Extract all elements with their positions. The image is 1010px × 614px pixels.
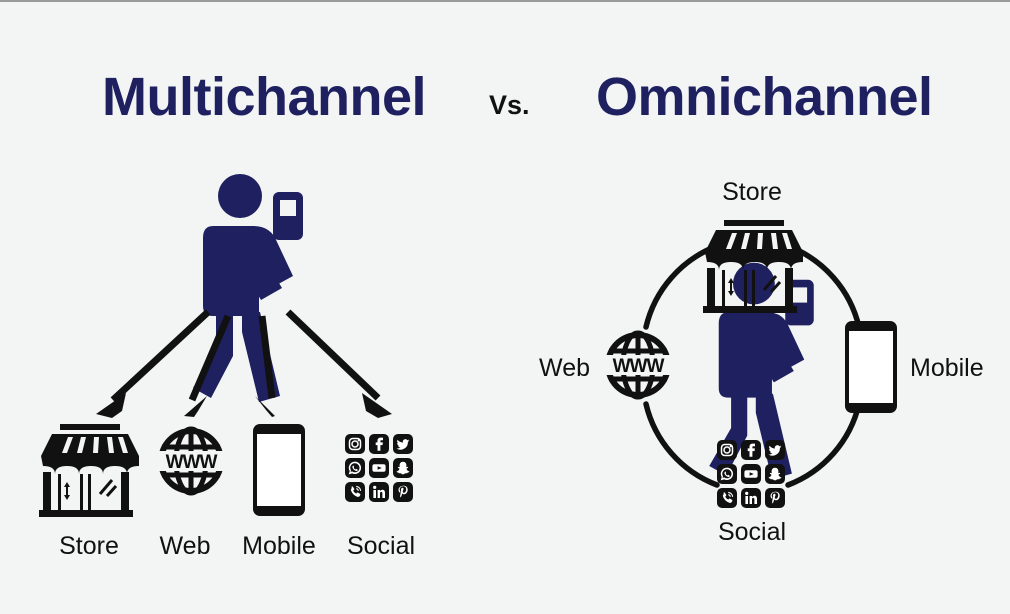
web-icon-group[interactable]: WWW xyxy=(605,332,671,398)
youtube-icon xyxy=(369,458,389,478)
globe-www-icon: WWW xyxy=(605,332,671,398)
channel-label-mobile: Mobile xyxy=(242,532,316,560)
channel-label-social: Social xyxy=(347,532,415,560)
twitter-icon xyxy=(393,434,413,454)
channel-label-store: Store xyxy=(722,178,782,206)
multichannel-arrowheads xyxy=(96,393,392,418)
whatsapp-icon xyxy=(345,458,365,478)
storefront-icon xyxy=(39,424,139,517)
channel-label-social: Social xyxy=(718,518,786,546)
social-icon-grid xyxy=(345,434,413,502)
channel-label-store: Store xyxy=(59,532,119,560)
facebook-icon xyxy=(741,440,761,460)
channel-label-web: Web xyxy=(539,354,590,382)
viber-icon xyxy=(717,488,737,508)
linkedin-icon xyxy=(369,482,389,502)
linkedin-icon xyxy=(741,488,761,508)
globe-www-icon: WWW xyxy=(158,428,224,494)
page-title-omnichannel: Omnichannel xyxy=(596,70,933,124)
mobile-icon-group[interactable]: Mobile xyxy=(242,424,316,560)
title-separator-vs: Vs. xyxy=(489,92,530,119)
www-text: WWW xyxy=(613,356,665,377)
social-icon-grid xyxy=(717,440,785,508)
snapchat-icon xyxy=(393,458,413,478)
social-icon-group[interactable] xyxy=(717,440,785,508)
omnichannel-diagram: Store xyxy=(520,152,1010,572)
store-icon-group[interactable]: Store xyxy=(39,424,139,560)
channel-label-mobile: Mobile xyxy=(910,354,984,382)
www-text: WWW xyxy=(166,452,218,473)
instagram-icon xyxy=(717,440,737,460)
arrow-to-social xyxy=(288,312,378,398)
facebook-icon xyxy=(369,434,389,454)
whatsapp-icon xyxy=(717,464,737,484)
social-icon-group[interactable]: Social xyxy=(345,434,415,560)
smartphone-icon xyxy=(253,424,305,516)
page-title-multichannel: Multichannel xyxy=(102,70,426,124)
infographic-canvas: Multichannel Vs. Omnichannel xyxy=(0,0,1010,614)
pinterest-icon xyxy=(765,488,785,508)
web-icon-group[interactable]: WWW Web xyxy=(158,428,224,560)
instagram-icon xyxy=(345,434,365,454)
channel-label-web: Web xyxy=(160,532,211,560)
pinterest-icon xyxy=(393,482,413,502)
multichannel-diagram: Store WWW Web xyxy=(0,152,470,552)
mobile-icon-group[interactable] xyxy=(845,321,897,413)
snapchat-icon xyxy=(765,464,785,484)
twitter-icon xyxy=(765,440,785,460)
smartphone-icon xyxy=(845,321,897,413)
youtube-icon xyxy=(741,464,761,484)
viber-icon xyxy=(345,482,365,502)
